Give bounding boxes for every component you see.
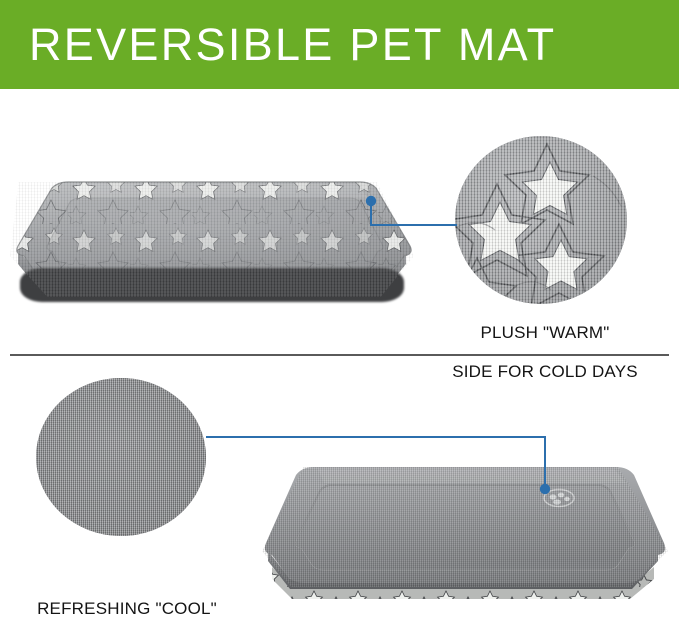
caption-cool-line1: REFRESHING "COOL"	[18, 599, 236, 619]
plush-star-mat	[6, 172, 418, 317]
cool-mat-illustration	[258, 455, 672, 605]
caption-warm-line2: SIDE FOR COLD DAYS	[440, 362, 650, 382]
caption-cool-side: REFRESHING "COOL" SIDE FOR WARM DAYS	[18, 579, 236, 625]
cool-woven-mat	[258, 455, 672, 605]
header-banner: REVERSIBLE PET MAT	[0, 0, 679, 89]
plush-star-texture-closeup	[455, 136, 627, 304]
mat-shadow	[20, 268, 404, 302]
caption-warm-side: PLUSH "WARM" SIDE FOR COLD DAYS	[440, 303, 650, 401]
closeup-star-texture	[455, 136, 627, 304]
product-infographic: REVERSIBLE PET MAT	[0, 0, 679, 625]
caption-warm-line1: PLUSH "WARM"	[440, 323, 650, 343]
cool-woven-texture-closeup	[36, 378, 206, 536]
page-title: REVERSIBLE PET MAT	[29, 22, 556, 67]
closeup-woven-texture	[36, 378, 206, 536]
